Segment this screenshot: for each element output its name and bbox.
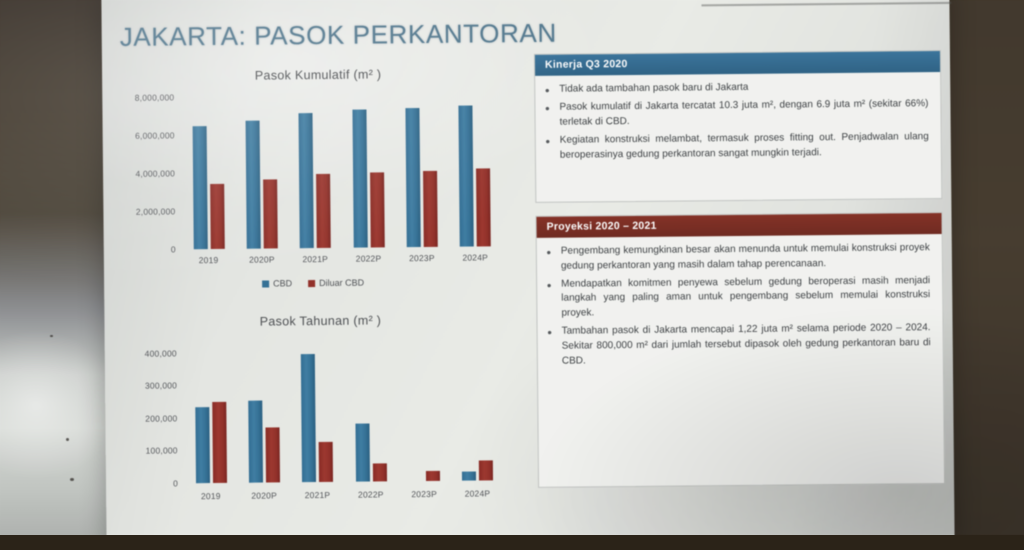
bar-group <box>192 126 224 249</box>
bar-group <box>301 354 333 482</box>
panel-proyeksi-2020-2021: Proyeksi 2020 – 2021 ● Pengembang kemung… <box>535 212 945 488</box>
bar-diluar-cbd <box>479 460 493 480</box>
bullet-marker: ● <box>544 134 552 164</box>
bar-diluar-cbd <box>319 442 333 482</box>
bar-group <box>248 400 280 482</box>
bullet-item: ● Tidak ada tambahan pasok baru di Jakar… <box>543 79 928 98</box>
dust-speck <box>50 335 53 337</box>
plot-area: 400,000300,000200,000100,0000 <box>183 340 504 483</box>
bar-diluar-cbd <box>316 174 331 248</box>
bullet-text: Pasok kumulatif di Jakarta tercatat 10.3… <box>559 97 928 130</box>
dust-speck <box>66 438 69 441</box>
x-axis-tick-label: 2024P <box>465 488 491 498</box>
bullet-text: Kegiatan konstruksi melambat, termasuk p… <box>560 130 929 163</box>
bar-group <box>352 109 384 248</box>
x-axis-tick-label: 2024P <box>462 252 488 262</box>
bar-group <box>405 108 437 247</box>
panel-body: ● Tidak ada tambahan pasok baru di Jakar… <box>535 72 941 175</box>
x-axis-tick-label: 2020P <box>249 254 275 264</box>
dust-speck <box>70 478 74 481</box>
bullet-marker: ● <box>545 277 553 321</box>
y-axis-tick: 400,000 <box>145 348 177 358</box>
bar-diluar-cbd <box>370 173 385 248</box>
bar-cbd <box>352 109 367 247</box>
bullet-marker: ● <box>543 83 551 98</box>
bar-cbd <box>248 401 263 483</box>
legend-swatch-cbd <box>262 280 269 287</box>
wall-left-specular <box>0 330 120 480</box>
x-axis-tick-label: 2021P <box>302 254 328 264</box>
y-axis-tick: 2,000,000 <box>136 206 176 216</box>
chart-pasok-tahunan: Pasok Tahunan (m² ) 400,000300,000200,00… <box>110 312 532 536</box>
y-axis-tick: 0 <box>173 478 178 488</box>
bullet-item: ● Tambahan pasok di Jakarta mencapai 1,2… <box>546 321 931 369</box>
bullet-text: Pengembang kemungkinan besar akan menund… <box>561 241 930 274</box>
x-axis-tick-label: 2022P <box>356 253 382 263</box>
y-axis-tick: 8,000,000 <box>135 92 175 102</box>
bar-cbd <box>405 108 420 247</box>
legend-swatch-diluar-cbd <box>308 280 315 287</box>
y-axis-tick: 0 <box>171 244 176 254</box>
bullet-marker: ● <box>545 245 553 275</box>
bar-diluar-cbd <box>423 170 438 247</box>
y-axis-tick: 300,000 <box>145 381 177 391</box>
bar-cbd <box>299 113 314 248</box>
bar-cbd <box>355 424 370 482</box>
legend-item-diluar-cbd: Diluar CBD <box>308 278 364 289</box>
bullet-text: Tidak ada tambahan pasok baru di Jakarta <box>559 79 928 98</box>
bar-cbd <box>459 106 474 247</box>
legend-label-diluar-cbd: Diluar CBD <box>319 278 364 288</box>
y-axis-tick: 100,000 <box>146 446 178 456</box>
bullet-marker: ● <box>546 325 554 369</box>
bar-diluar-cbd <box>373 463 387 481</box>
bar-group <box>355 423 387 481</box>
bar-diluar-cbd <box>266 428 281 483</box>
bar-group <box>409 470 440 481</box>
bullet-item: ● Pasok kumulatif di Jakarta tercatat 10… <box>543 97 928 130</box>
bar-group <box>195 402 227 484</box>
bar-group <box>299 113 331 249</box>
plot-area: 8,000,0006,000,0004,000,0002,000,0000 <box>180 94 501 249</box>
chart-title: Pasok Tahunan (m² ) <box>110 312 530 330</box>
bullet-marker: ● <box>543 101 551 131</box>
y-axis-tick: 4,000,000 <box>135 168 175 178</box>
bar-diluar-cbd <box>476 168 491 246</box>
x-axis-tick-label: 2020P <box>251 490 277 500</box>
bar-cbd <box>195 408 210 484</box>
chart-title: Pasok Kumulatif (m² ) <box>108 66 528 84</box>
bullet-item: ● Kegiatan konstruksi melambat, termasuk… <box>544 130 929 163</box>
y-axis-tick: 200,000 <box>145 413 177 423</box>
chart-legend: CBD Diluar CBD <box>262 278 364 289</box>
slide-content: JAKARTA: PASOK PERKANTORAN Pasok Kumulat… <box>101 0 954 550</box>
bullet-text: Tambahan pasok di Jakarta mencapai 1,22 … <box>562 321 931 369</box>
bar-diluar-cbd <box>426 470 440 481</box>
bar-cbd <box>246 121 261 249</box>
bar-group <box>459 106 491 247</box>
bar-cbd <box>192 127 207 250</box>
x-axis-tick-label: 2022P <box>358 489 384 499</box>
legend-label-cbd: CBD <box>273 278 292 288</box>
y-axis-tick: 6,000,000 <box>135 130 175 140</box>
bar-group <box>462 460 493 480</box>
bar-diluar-cbd <box>210 184 225 249</box>
bullet-text: Mendapatkan komitmen penyewa sebelum ged… <box>561 274 930 322</box>
panel-body: ● Pengembang kemungkinan besar akan menu… <box>537 234 943 381</box>
page-title: JAKARTA: PASOK PERKANTORAN <box>120 18 557 53</box>
chart-pasok-kumulatif: Pasok Kumulatif (m² ) 8,000,0006,000,000… <box>108 66 530 305</box>
bar-cbd <box>301 354 316 482</box>
x-axis-tick-label: 2019 <box>201 491 221 501</box>
x-axis-tick-label: 2019 <box>199 255 219 265</box>
x-axis-tick-label: 2023P <box>411 489 437 499</box>
x-axis-tick-label: 2023P <box>409 253 435 263</box>
bullet-item: ● Mendapatkan komitmen penyewa sebelum g… <box>545 274 930 322</box>
panel-kinerja-q3-2020: Kinerja Q3 2020 ● Tidak ada tambahan pas… <box>534 50 942 203</box>
bar-diluar-cbd <box>212 402 227 484</box>
bar-diluar-cbd <box>263 179 278 248</box>
bullet-item: ● Pengembang kemungkinan besar akan menu… <box>545 241 930 274</box>
x-axis-tick-label: 2021P <box>305 490 331 500</box>
bar-group <box>246 121 278 249</box>
bar-cbd <box>462 471 476 480</box>
legend-item-cbd: CBD <box>262 278 292 288</box>
